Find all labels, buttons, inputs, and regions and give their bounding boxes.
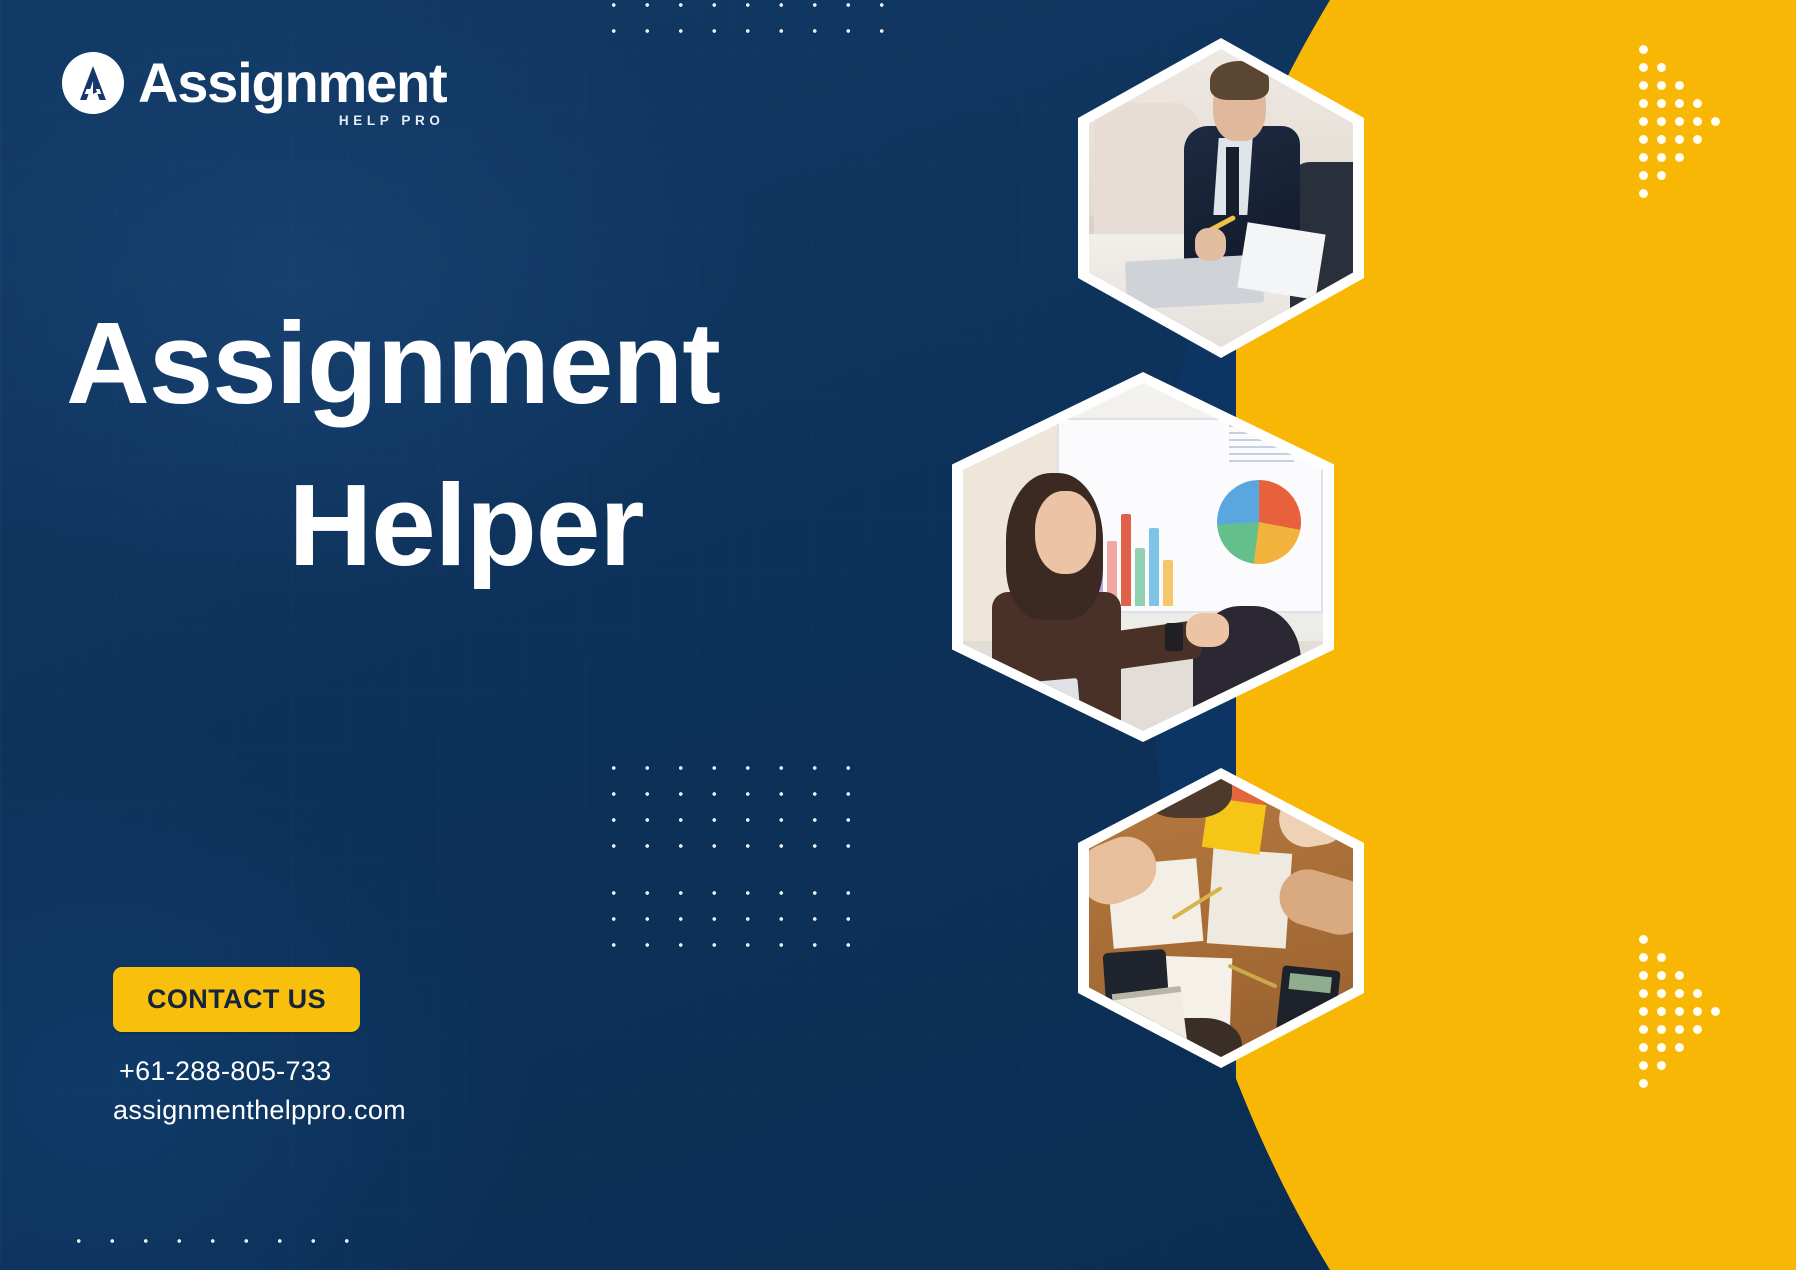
brand-tagline: HELP PRO bbox=[339, 113, 445, 128]
brand-name: Assignment bbox=[138, 51, 447, 114]
contact-us-button[interactable]: CONTACT US bbox=[113, 967, 360, 1032]
dot-grid-top-decoration bbox=[597, 0, 909, 50]
dot-grid-lower-decoration bbox=[597, 880, 857, 968]
page-title: Assignment Helper bbox=[66, 282, 866, 607]
chevron-dot-pattern-bottom bbox=[1634, 930, 1724, 1092]
photo-frame-inner bbox=[1089, 49, 1353, 347]
a-monogram-icon bbox=[62, 52, 124, 114]
chevron-dot-pattern-top bbox=[1634, 40, 1724, 202]
photo-frame-inner bbox=[1089, 779, 1353, 1057]
contact-details: +61-288-805-733 assignmenthelppro.com bbox=[113, 1052, 406, 1130]
website-url[interactable]: assignmenthelppro.com bbox=[113, 1091, 406, 1130]
photo-frame-inner bbox=[963, 383, 1323, 731]
brand-logo[interactable]: Assignment HELP PRO bbox=[62, 52, 447, 114]
dot-grid-footer-decoration bbox=[62, 1228, 362, 1264]
dot-grid-middle-decoration bbox=[597, 755, 857, 867]
phone-number[interactable]: +61-288-805-733 bbox=[113, 1052, 406, 1091]
promotional-banner: Assignment HELP PRO Assignment Helper CO… bbox=[0, 0, 1796, 1270]
headline-line-2: Helper bbox=[66, 444, 866, 606]
headline-line-1: Assignment bbox=[66, 282, 866, 444]
